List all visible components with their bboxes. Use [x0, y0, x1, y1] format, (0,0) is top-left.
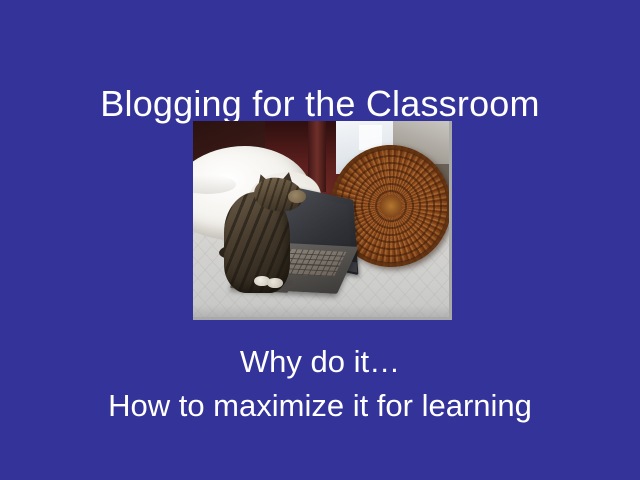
presentation-slide: Blogging for the Classroom [0, 0, 640, 480]
cat-with-laptop-photo [193, 121, 449, 317]
photo-pillow-fold [193, 175, 236, 194]
photo-cat-paw-rear [267, 278, 282, 288]
subtitle-line-1: Why do it… [0, 340, 640, 384]
subtitle-line-2: How to maximize it for learning [0, 384, 640, 428]
slide-subtitle: Why do it… How to maximize it for learni… [0, 340, 640, 428]
slide-image [193, 121, 452, 320]
photo-bed-shadow [193, 305, 449, 317]
slide-title: Blogging for the Classroom [0, 82, 640, 126]
photo-cat-muzzle [288, 190, 306, 204]
